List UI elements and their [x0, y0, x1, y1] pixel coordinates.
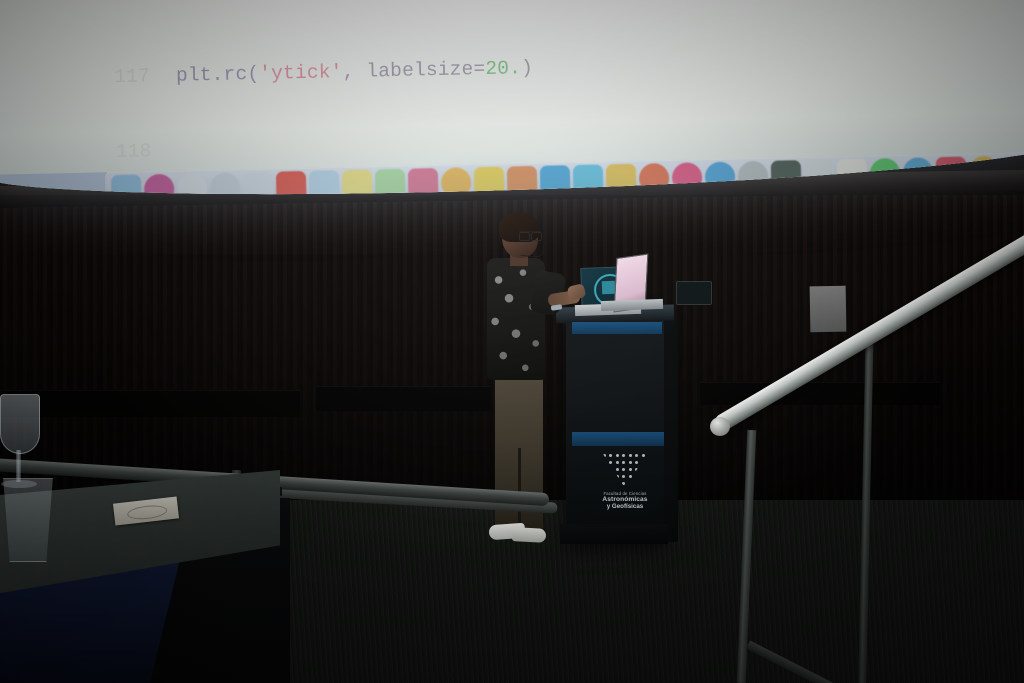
headset-microphone-icon [520, 239, 545, 258]
podium-base [560, 524, 668, 544]
logo-line-2: Astronómicas [602, 496, 647, 503]
coaster-ring-mark [127, 504, 168, 521]
presenter-shoe-right [512, 527, 547, 543]
handrail-end-cap [710, 417, 730, 436]
podium-accent-stripe-top [572, 322, 662, 334]
lecture-hall-photo: 117plt.rc('ytick', labelsize=20.) 118 pl… [0, 0, 1024, 683]
laptop-logo-mark-icon [602, 281, 615, 294]
screen-vignette [0, 0, 1024, 202]
background-monitor [676, 281, 712, 305]
wine-glass [0, 394, 40, 490]
presenter-leg-separation [518, 448, 521, 530]
podium-accent-stripe-bottom [572, 432, 664, 446]
faculty-logo: Facultad de Ciencias Astronómicas y Geof… [592, 452, 658, 526]
wine-glass-bowl [0, 394, 40, 454]
logo-line-3: y Geofísicas [607, 503, 643, 510]
logo-dot-pattern-icon [603, 454, 647, 488]
wine-glass-stem [16, 450, 21, 482]
projection-screen: 117plt.rc('ytick', labelsize=20.) 118 pl… [0, 0, 1024, 202]
plastic-cup [1, 478, 55, 562]
